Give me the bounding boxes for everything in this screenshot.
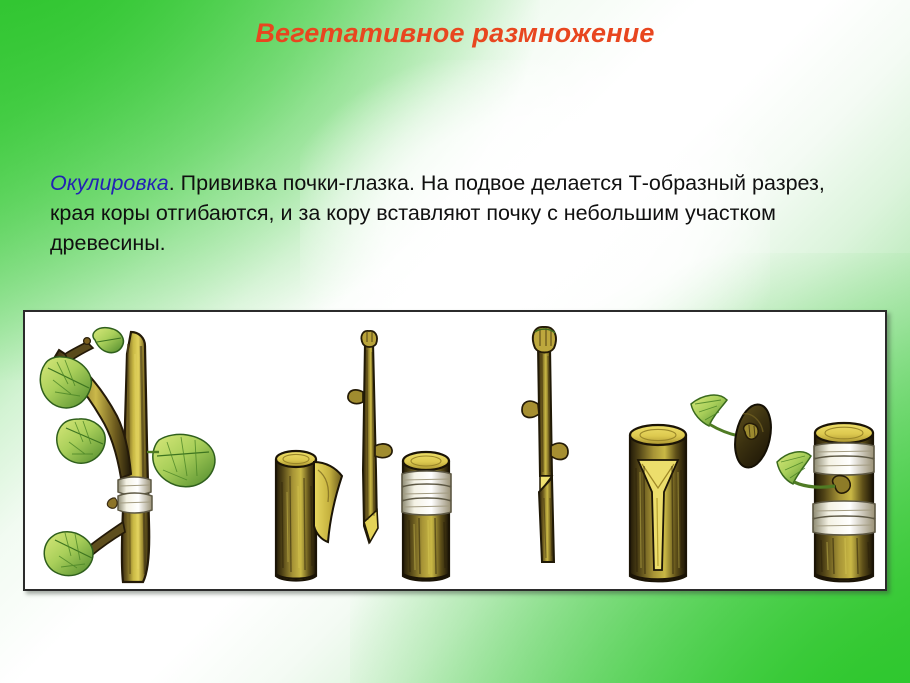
figure-grafted-branch-with-leaves-bandaged bbox=[35, 324, 235, 584]
illustration-panel bbox=[23, 310, 887, 591]
term-okulirovka: Окулировка bbox=[50, 171, 169, 195]
illustration-stage bbox=[25, 312, 885, 589]
figure-scion-twig-with-buds-cut bbox=[345, 330, 397, 555]
figure-stump-with-inserted-scion-bandaged bbox=[395, 432, 465, 587]
body-paragraph: Окулировка. Прививка почки-глазка. На по… bbox=[50, 168, 860, 258]
figure-finished-bud-graft-bandaged bbox=[777, 412, 885, 588]
figure-scion-twig-angled-cut bbox=[520, 326, 572, 576]
figure-bud-shield-with-leaf bbox=[687, 390, 783, 480]
slide-canvas: Вегетативное размножение Окулировка. При… bbox=[0, 0, 910, 683]
page-title: Вегетативное размножение bbox=[0, 18, 910, 49]
